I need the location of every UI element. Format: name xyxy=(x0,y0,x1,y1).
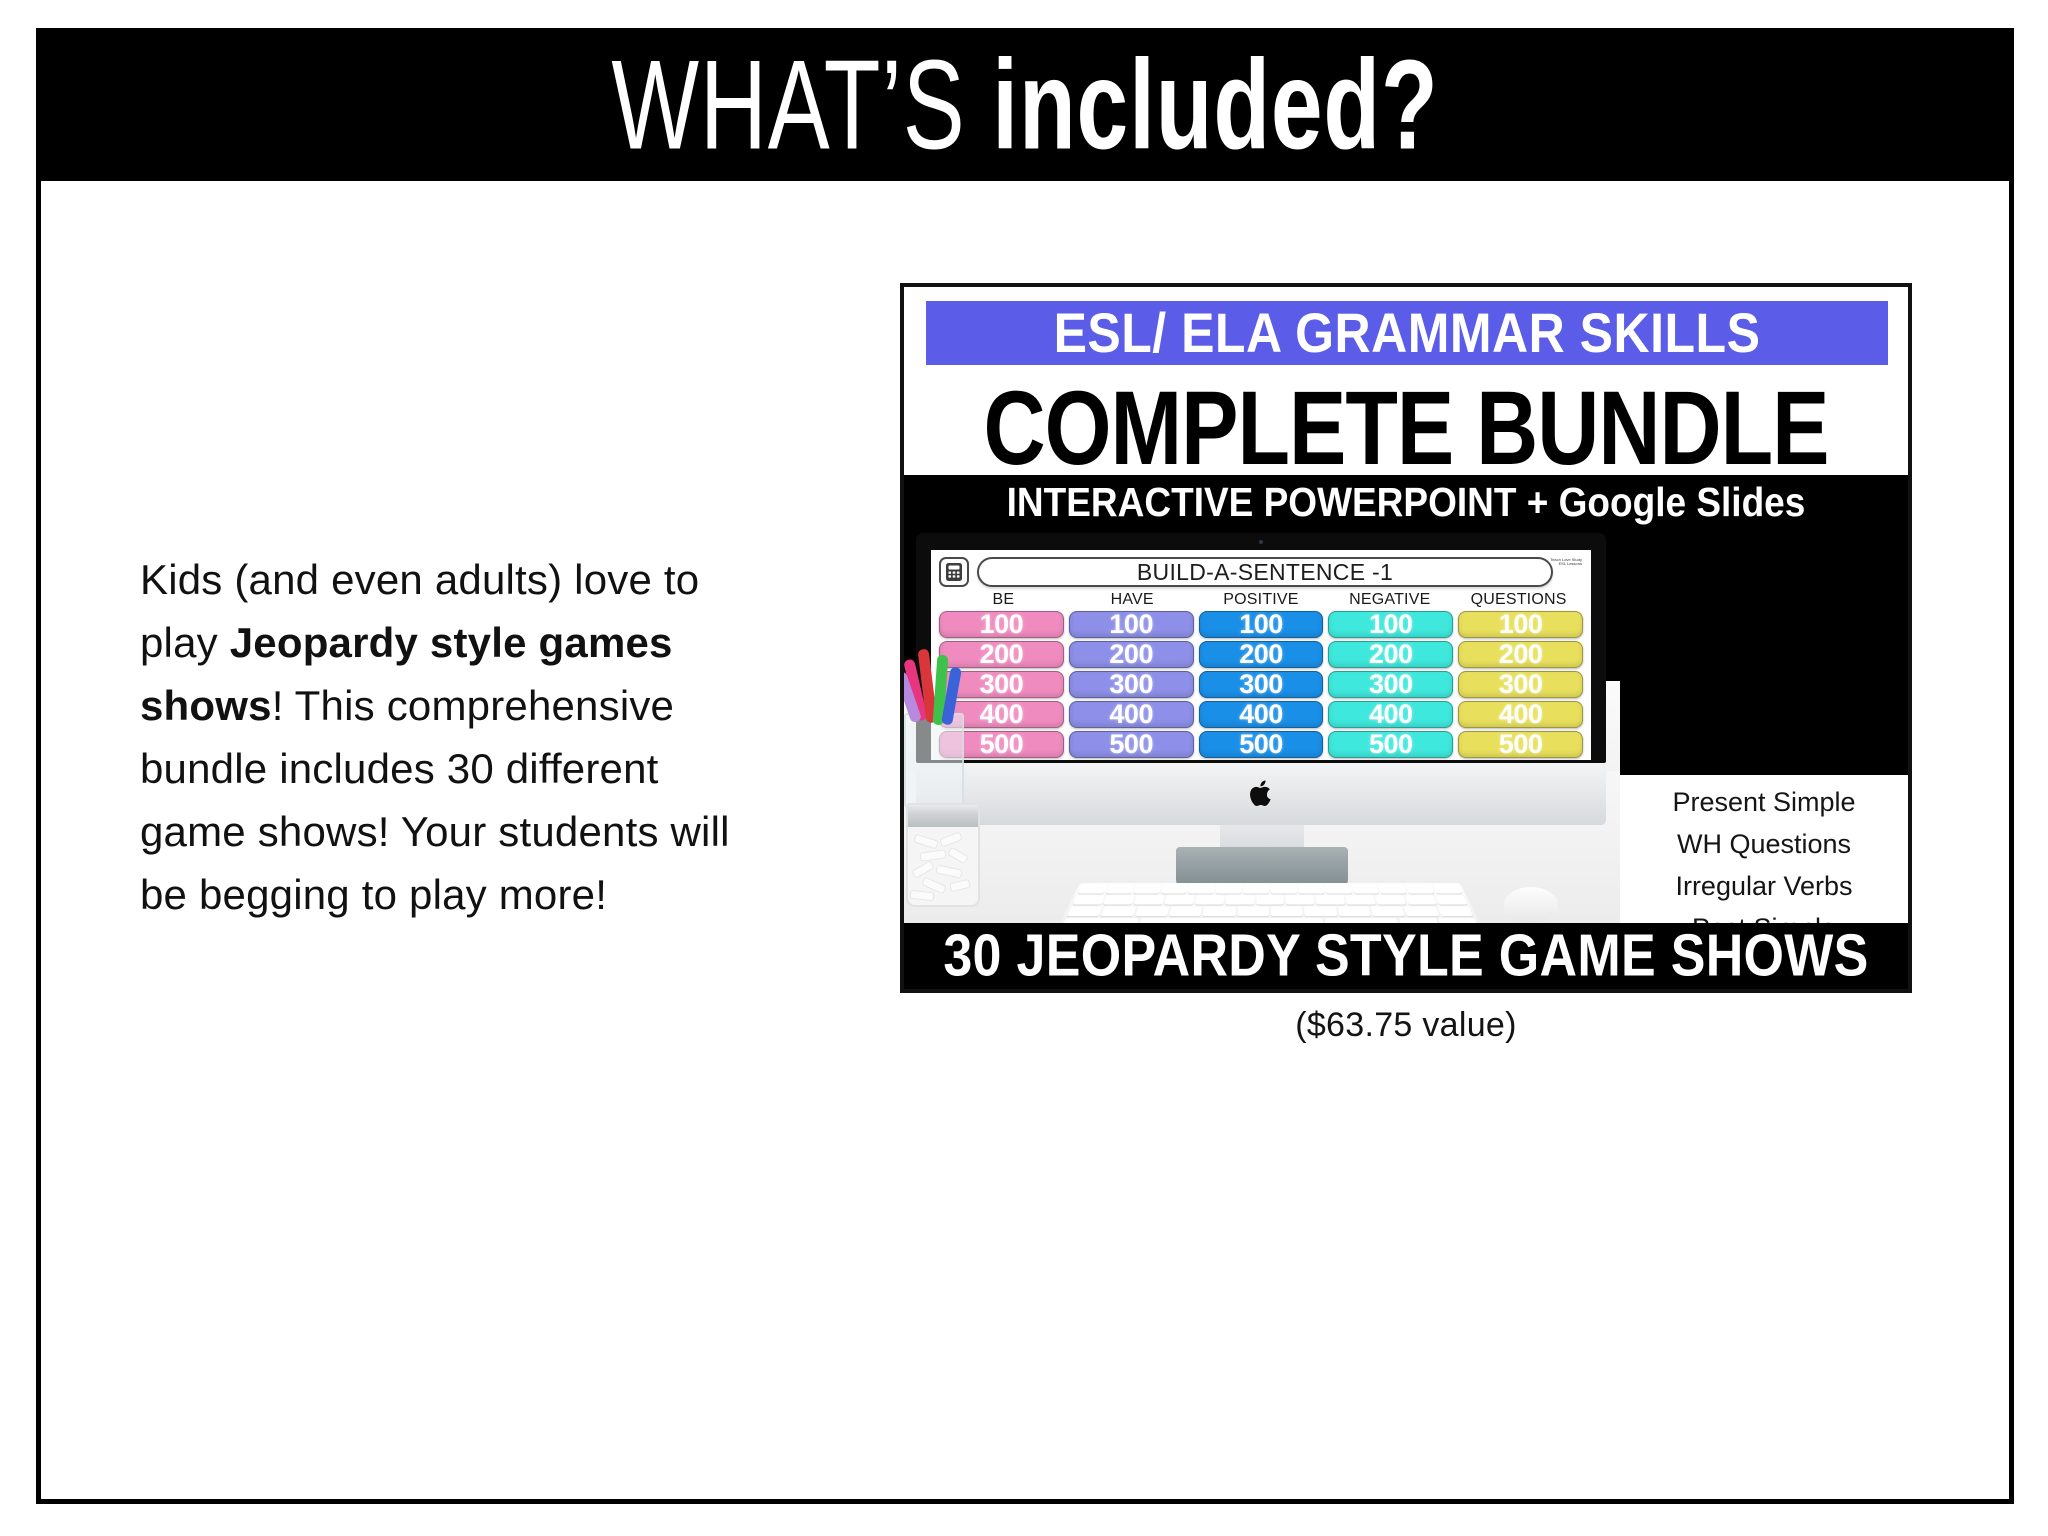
page-title: WHAT’S included? xyxy=(611,41,1438,168)
board-title-text: BUILD-A-SENTENCE -1 xyxy=(1137,559,1393,586)
board-tile[interactable]: 500 xyxy=(1199,731,1324,758)
imac-display: Teach Love Study ESL Lessons xyxy=(916,533,1606,763)
keyboard-row xyxy=(1075,885,1465,894)
board-category: BE xyxy=(939,591,1068,609)
webcam-icon xyxy=(1259,540,1263,544)
board-tile[interactable]: 300 xyxy=(1199,671,1324,698)
board-row: 100100100100100 xyxy=(939,611,1583,638)
product-mockup: Teach Love Study ESL Lessons xyxy=(904,531,1908,923)
board-row: 300300300300300 xyxy=(939,671,1583,698)
board-row: 400400400400400 xyxy=(939,701,1583,728)
imac-screen: Teach Love Study ESL Lessons xyxy=(931,550,1591,760)
keyboard xyxy=(1053,883,1487,923)
jar-lid xyxy=(906,803,980,827)
product-title: COMPLETE BUNDLE xyxy=(904,369,1908,490)
calculator-icon[interactable] xyxy=(939,557,969,587)
product-subtitle-banner: INTERACTIVE POWERPOINT + Google Slides xyxy=(904,475,1908,531)
board-tile[interactable]: 200 xyxy=(1328,641,1453,668)
board-tile[interactable]: 500 xyxy=(1458,731,1583,758)
board-tile[interactable]: 100 xyxy=(1069,611,1194,638)
board-tile[interactable]: 200 xyxy=(939,641,1064,668)
desk-photo: Teach Love Study ESL Lessons xyxy=(904,531,1620,923)
slide-canvas: WHAT’S included? Kids (and even adults) … xyxy=(0,0,2048,1536)
board-tile[interactable]: 200 xyxy=(1199,641,1324,668)
board-tile[interactable]: 100 xyxy=(1199,611,1324,638)
value-note: ($63.75 value) xyxy=(900,1006,1912,1045)
product-eyebrow-text: ESL/ ELA GRAMMAR SKILLS xyxy=(1054,301,1761,366)
product-eyebrow-banner: ESL/ ELA GRAMMAR SKILLS xyxy=(926,301,1888,365)
skill-item: Irregular Verbs xyxy=(1675,866,1852,908)
board-tile[interactable]: 200 xyxy=(1069,641,1194,668)
board-tile[interactable]: 100 xyxy=(1328,611,1453,638)
marker-cup xyxy=(904,713,964,809)
board-category: POSITIVE xyxy=(1197,591,1326,609)
board-tile[interactable]: 100 xyxy=(939,611,1064,638)
board-tile[interactable]: 200 xyxy=(1458,641,1583,668)
chalk-jar xyxy=(906,803,980,907)
skills-list: Present SimpleWH QuestionsIrregular Verb… xyxy=(1620,775,1908,923)
board-tile[interactable]: 400 xyxy=(1199,701,1324,728)
jeopardy-board: Teach Love Study ESL Lessons xyxy=(931,550,1591,760)
product-bottom-banner: 30 JEOPARDY STYLE GAME SHOWS xyxy=(904,923,1908,989)
skill-item: WH Questions xyxy=(1677,824,1851,866)
header-banner: WHAT’S included? xyxy=(36,28,2014,181)
board-category: HAVE xyxy=(1068,591,1197,609)
board-tile[interactable]: 300 xyxy=(1069,671,1194,698)
board-row: 500500500500500 xyxy=(939,731,1583,758)
board-title-box: BUILD-A-SENTENCE -1 xyxy=(977,557,1553,587)
board-category: NEGATIVE xyxy=(1325,591,1454,609)
board-tile-grid: 1001001001001002002002002002003003003003… xyxy=(939,611,1583,758)
board-tile[interactable]: 300 xyxy=(1458,671,1583,698)
board-tile[interactable]: 400 xyxy=(1458,701,1583,728)
board-row: 200200200200200 xyxy=(939,641,1583,668)
page-title-thin: WHAT’S xyxy=(611,33,992,176)
keyboard-row xyxy=(1064,906,1477,916)
board-tile[interactable]: 500 xyxy=(1328,731,1453,758)
skill-item: Present Simple xyxy=(1672,782,1855,824)
mouse xyxy=(1504,887,1558,923)
product-subtitle-text: INTERACTIVE POWERPOINT + Google Slides xyxy=(1007,480,1806,526)
board-tile[interactable]: 300 xyxy=(1328,671,1453,698)
product-bottom-banner-text: 30 JEOPARDY STYLE GAME SHOWS xyxy=(943,922,1868,991)
board-tile[interactable]: 400 xyxy=(1069,701,1194,728)
board-tile[interactable]: 500 xyxy=(1069,731,1194,758)
description-paragraph: Kids (and even adults) love to play Jeop… xyxy=(140,548,770,926)
page-title-bold: included? xyxy=(992,33,1438,176)
apple-logo-icon xyxy=(1248,777,1276,809)
product-cover-card: ESL/ ELA GRAMMAR SKILLS COMPLETE BUNDLE … xyxy=(900,283,1912,993)
board-tile[interactable]: 400 xyxy=(1328,701,1453,728)
board-category-row: BEHAVEPOSITIVENEGATIVEQUESTIONS xyxy=(939,591,1583,609)
keyboard-row xyxy=(1069,895,1470,904)
board-category: QUESTIONS xyxy=(1454,591,1583,609)
board-header: BUILD-A-SENTENCE -1 xyxy=(939,556,1583,588)
board-tile[interactable]: 100 xyxy=(1458,611,1583,638)
watermark-text: Teach Love Study ESL Lessons xyxy=(1542,558,1582,567)
